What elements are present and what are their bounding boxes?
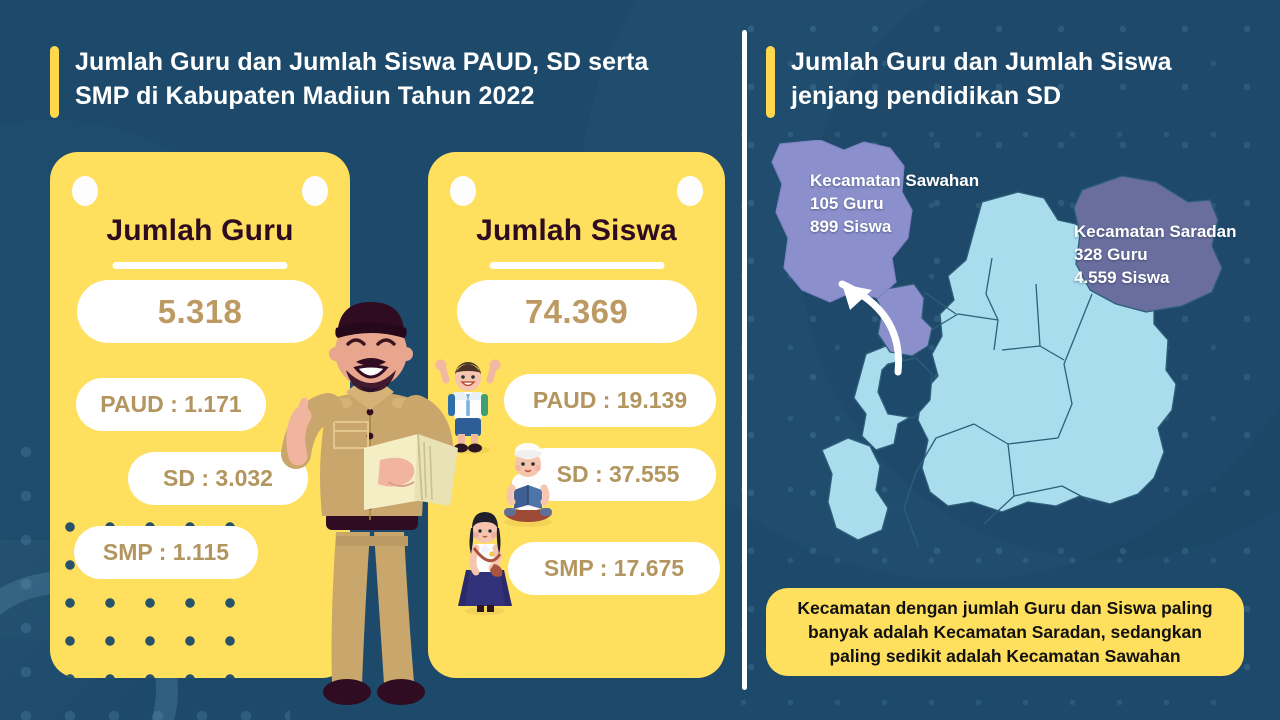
infographic-canvas: Jumlah Guru dan Jumlah Siswa PAUD, SD se… bbox=[0, 0, 1280, 720]
title-accent-bar bbox=[766, 46, 775, 118]
card-punch-hole-left bbox=[450, 176, 476, 206]
jumlah-guru-paud: PAUD : 1.171 bbox=[76, 378, 266, 431]
heading-underline bbox=[489, 262, 664, 269]
card-punch-hole-right bbox=[677, 176, 703, 206]
card-punch-hole-left bbox=[72, 176, 98, 206]
jumlah-siswa-total: 74.369 bbox=[457, 280, 697, 343]
map-label-sawahan: Kecamatan Sawahan 105 Guru 899 Siswa bbox=[810, 170, 979, 238]
left-panel-title-text: Jumlah Guru dan Jumlah Siswa PAUD, SD se… bbox=[75, 46, 648, 113]
map-caption-text: Kecamatan dengan jumlah Guru dan Siswa p… bbox=[797, 596, 1212, 668]
map-label-saradan: Kecamatan Saradan 328 Guru 4.559 Siswa bbox=[1074, 221, 1237, 289]
teacher-illustration bbox=[268, 300, 474, 720]
jumlah-guru-heading: Jumlah Guru bbox=[50, 214, 350, 248]
map-caption-box: Kecamatan dengan jumlah Guru dan Siswa p… bbox=[766, 588, 1244, 676]
right-panel-title: Jumlah Guru dan Jumlah Siswa jenjang pen… bbox=[766, 46, 1172, 124]
panel-divider bbox=[742, 30, 747, 690]
right-panel-title-text: Jumlah Guru dan Jumlah Siswa jenjang pen… bbox=[791, 46, 1172, 113]
card-punch-hole-right bbox=[302, 176, 328, 206]
jumlah-siswa-heading: Jumlah Siswa bbox=[428, 214, 725, 248]
heading-underline bbox=[113, 262, 288, 269]
left-panel-title: Jumlah Guru dan Jumlah Siswa PAUD, SD se… bbox=[50, 46, 648, 124]
jumlah-guru-smp: SMP : 1.115 bbox=[74, 526, 258, 579]
jumlah-siswa-paud: PAUD : 19.139 bbox=[504, 374, 716, 427]
jumlah-siswa-smp: SMP : 17.675 bbox=[508, 542, 720, 595]
title-accent-bar bbox=[50, 46, 59, 118]
